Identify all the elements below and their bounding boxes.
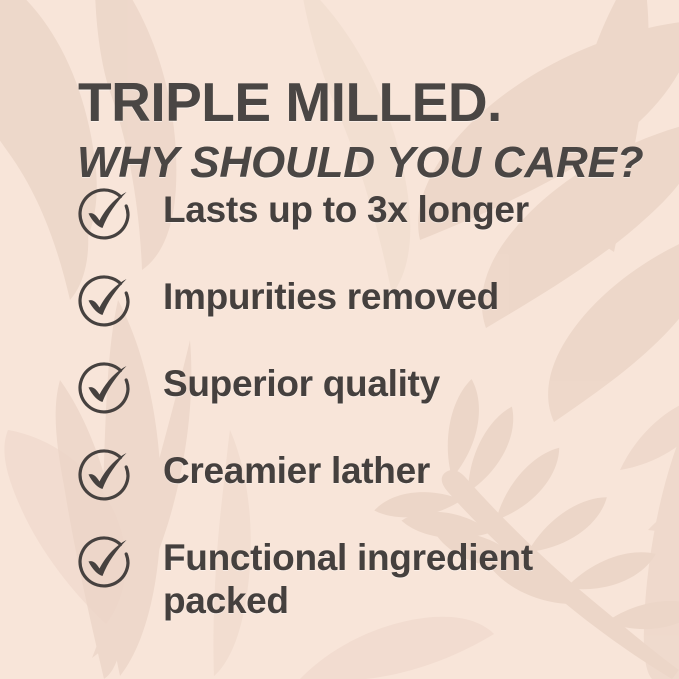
list-item: Creamier lather xyxy=(0,447,679,534)
circled-check-icon xyxy=(74,445,136,507)
circled-check-icon xyxy=(74,532,136,594)
benefit-list: Lasts up to 3x longer Impurities removed… xyxy=(0,186,679,621)
circled-check-icon xyxy=(74,184,136,246)
product-benefits-poster: TRIPLE MILLED. WHY SHOULD YOU CARE? Last… xyxy=(0,0,679,679)
list-item-label: Superior quality xyxy=(163,362,440,405)
list-item-label: Creamier lather xyxy=(163,449,430,492)
list-item: Superior quality xyxy=(0,360,679,447)
list-item-label: Impurities removed xyxy=(163,275,499,318)
list-item-label: Functional ingredient packed xyxy=(163,536,593,623)
list-item: Functional ingredient packed xyxy=(0,534,679,621)
circled-check-icon xyxy=(74,358,136,420)
list-item: Lasts up to 3x longer xyxy=(0,186,679,273)
list-item: Impurities removed xyxy=(0,273,679,360)
page-title: TRIPLE MILLED. xyxy=(78,75,658,130)
circled-check-icon xyxy=(74,271,136,333)
list-item-label: Lasts up to 3x longer xyxy=(163,188,529,231)
page-subtitle: WHY SHOULD YOU CARE? xyxy=(77,141,677,185)
